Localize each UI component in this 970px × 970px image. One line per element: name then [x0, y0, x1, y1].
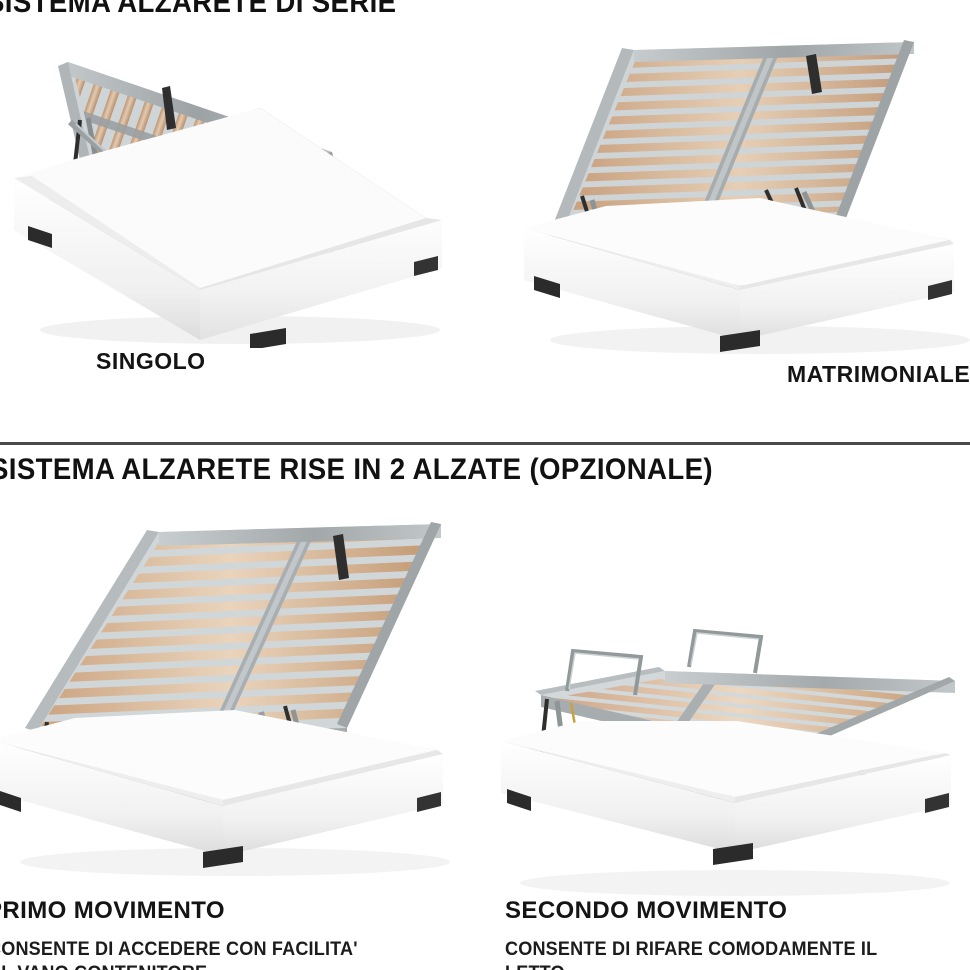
title-primo-movimento: PRIMO MOVIMENTO: [0, 897, 225, 925]
bed-storage-icon: [510, 40, 970, 360]
bed-figure-matrimoniale: [510, 40, 970, 360]
caption-matrimoniale: MATRIMONIALE: [787, 361, 970, 388]
bed-figure-secondo-movimento: [485, 625, 965, 900]
bed-figure-primo-movimento: [0, 500, 455, 880]
description-secondo-movimento: CONSENTE DI RIFARE COMODAMENTE IL LETTO: [505, 938, 877, 970]
bed-figure-singolo: [10, 48, 460, 348]
title-secondo-movimento: SECONDO MOVIMENTO: [505, 897, 787, 925]
description-line: CONSENTE DI ACCEDERE CON FACILITA': [0, 938, 358, 962]
section-divider: [0, 442, 970, 445]
bed-storage-icon: [0, 500, 455, 880]
bed-shadow: [520, 870, 950, 896]
description-line: CONSENTE DI RIFARE COMODAMENTE IL: [505, 938, 877, 962]
description-primo-movimento: CONSENTE DI ACCEDERE CON FACILITA' AL VA…: [0, 938, 358, 970]
section-heading-rise: SISTEMA ALZARETE RISE IN 2 ALZATE (OPZIO…: [0, 453, 713, 487]
description-line: AL VANO CONTENITORE: [0, 962, 358, 970]
bed-storage-icon: [485, 625, 965, 900]
section-heading-serie: SISTEMA ALZARETE DI SERIE: [0, 0, 396, 20]
bed-storage-icon: [10, 48, 460, 348]
catalog-page: SISTEMA ALZARETE DI SERIE: [0, 0, 970, 970]
description-line: LETTO: [505, 962, 877, 970]
caption-singolo: SINGOLO: [96, 348, 206, 375]
